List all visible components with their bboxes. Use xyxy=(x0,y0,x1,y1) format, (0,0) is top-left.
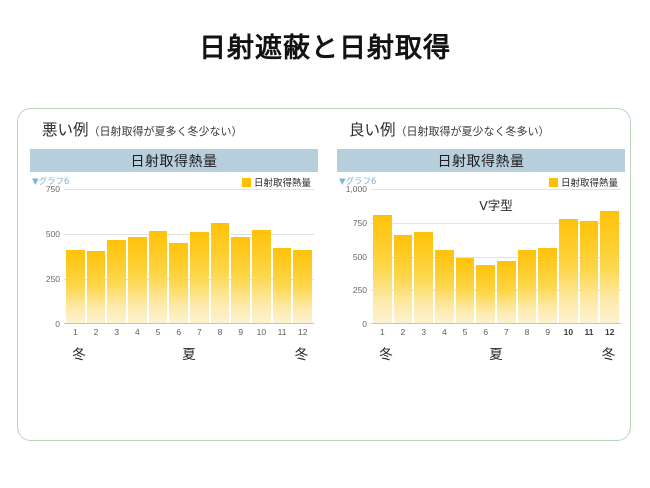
y-tick-label: 500 xyxy=(353,252,367,262)
plot-area-good: V字型 xyxy=(371,189,621,324)
y-axis-good: 02505007501,000 xyxy=(337,189,370,324)
x-tick-label: 3 xyxy=(107,327,126,337)
bar-1 xyxy=(373,215,392,324)
x-tick-label: 2 xyxy=(394,327,413,337)
x-axis-labels-bad: 123456789101112 xyxy=(64,327,314,337)
plot-bad: 0250500750 123456789101112 冬夏冬 xyxy=(30,189,318,339)
x-tick-label: 8 xyxy=(518,327,537,337)
axis-baseline xyxy=(371,323,621,325)
example-heading-main: 良い例 xyxy=(349,121,396,139)
example-heading-note: （日射取得が夏少なく冬多い） xyxy=(396,125,550,138)
x-tick-label: 6 xyxy=(476,327,495,337)
bar-6 xyxy=(476,265,495,324)
season-marker: 冬 xyxy=(295,343,309,363)
legend-label: 日射取得熱量 xyxy=(254,175,311,189)
x-tick-label: 10 xyxy=(252,327,271,337)
x-tick-label: 6 xyxy=(169,327,188,337)
bar-4 xyxy=(128,237,147,324)
chart-annotation-vshape: V字型 xyxy=(479,195,513,214)
bar-10 xyxy=(252,230,271,324)
bar-9 xyxy=(231,237,250,324)
season-marker: 夏 xyxy=(489,343,503,363)
x-tick-label: 3 xyxy=(414,327,433,337)
x-tick-label: 4 xyxy=(128,327,147,337)
bar-3 xyxy=(414,232,433,324)
y-tick-label: 750 xyxy=(353,218,367,228)
x-tick-label: 11 xyxy=(273,327,292,337)
bar-group-bad xyxy=(64,189,314,324)
bar-11 xyxy=(580,221,599,324)
axis-baseline xyxy=(64,323,314,325)
legend-color-swatch xyxy=(242,178,251,187)
bar-8 xyxy=(518,250,537,324)
y-tick-label: 250 xyxy=(353,285,367,295)
legend-color-swatch xyxy=(549,178,558,187)
x-tick-label: 4 xyxy=(435,327,454,337)
chart-legend-bad: 日射取得熱量 xyxy=(242,175,311,189)
season-marker: 夏 xyxy=(182,343,196,363)
x-tick-label: 7 xyxy=(190,327,209,337)
bar-10 xyxy=(559,219,578,324)
x-tick-label: 9 xyxy=(231,327,250,337)
example-heading-bad: 悪い例（日射取得が夏多く冬少ない） xyxy=(30,118,327,140)
bar-12 xyxy=(293,250,312,324)
season-markers-bad: 冬夏冬 xyxy=(64,343,314,363)
season-marker: 冬 xyxy=(379,343,393,363)
season-marker: 冬 xyxy=(602,343,616,363)
y-tick-label: 750 xyxy=(46,184,60,194)
x-tick-label: 10 xyxy=(559,327,578,337)
bar-2 xyxy=(394,235,413,324)
example-block-bad: 悪い例（日射取得が夏多く冬少ない） 日射取得熱量 ▼グラフ6 日射取得熱量 02… xyxy=(30,118,327,398)
plot-area-bad xyxy=(64,189,314,324)
x-tick-label: 9 xyxy=(538,327,557,337)
bar-5 xyxy=(456,258,475,324)
x-tick-label: 12 xyxy=(293,327,312,337)
chart-card-good: 日射取得熱量 ▼グラフ6 日射取得熱量 02505007501,000 V字型 … xyxy=(337,149,625,387)
x-axis-labels-good: 123456789101112 xyxy=(371,327,621,337)
x-tick-label: 12 xyxy=(600,327,619,337)
bar-7 xyxy=(497,261,516,324)
bar-4 xyxy=(435,250,454,324)
bar-5 xyxy=(149,231,168,324)
y-axis-bad: 0250500750 xyxy=(30,189,63,324)
bar-3 xyxy=(107,240,126,324)
bar-7 xyxy=(190,232,209,324)
legend-label: 日射取得熱量 xyxy=(561,175,618,189)
slide-root: 日射遮蔽と日射取得 悪い例（日射取得が夏多く冬少ない） 日射取得熱量 ▼グラフ6… xyxy=(0,0,650,488)
bar-9 xyxy=(538,248,557,324)
example-heading-note: （日射取得が夏多く冬少ない） xyxy=(89,125,243,138)
y-tick-label: 500 xyxy=(46,229,60,239)
example-heading-good: 良い例（日射取得が夏少なく冬多い） xyxy=(337,118,634,140)
y-tick-label: 0 xyxy=(55,319,60,329)
y-tick-label: 0 xyxy=(362,319,367,329)
bar-8 xyxy=(211,223,230,324)
x-tick-label: 7 xyxy=(497,327,516,337)
y-tick-label: 250 xyxy=(46,274,60,284)
example-block-good: 良い例（日射取得が夏少なく冬多い） 日射取得熱量 ▼グラフ6 日射取得熱量 02… xyxy=(337,118,634,398)
bar-12 xyxy=(600,211,619,324)
x-tick-label: 5 xyxy=(456,327,475,337)
chart-card-bad: 日射取得熱量 ▼グラフ6 日射取得熱量 0250500750 123456789… xyxy=(30,149,318,387)
example-heading-main: 悪い例 xyxy=(42,121,89,139)
chart-title-bad: 日射取得熱量 xyxy=(30,149,318,172)
x-tick-label: 2 xyxy=(87,327,106,337)
bar-2 xyxy=(87,251,106,324)
x-tick-label: 11 xyxy=(580,327,599,337)
bar-6 xyxy=(169,243,188,324)
x-tick-label: 1 xyxy=(66,327,85,337)
x-tick-label: 1 xyxy=(373,327,392,337)
season-marker: 冬 xyxy=(72,343,86,363)
bar-1 xyxy=(66,250,85,324)
bar-11 xyxy=(273,248,292,325)
season-markers-good: 冬夏冬 xyxy=(371,343,621,363)
chart-title-good: 日射取得熱量 xyxy=(337,149,625,172)
chart-legend-good: 日射取得熱量 xyxy=(549,175,618,189)
plot-good: 02505007501,000 V字型 123456789101112 冬夏冬 xyxy=(337,189,625,339)
x-tick-label: 5 xyxy=(149,327,168,337)
y-tick-label: 1,000 xyxy=(346,184,367,194)
page-title: 日射遮蔽と日射取得 xyxy=(0,26,650,65)
x-tick-label: 8 xyxy=(211,327,230,337)
